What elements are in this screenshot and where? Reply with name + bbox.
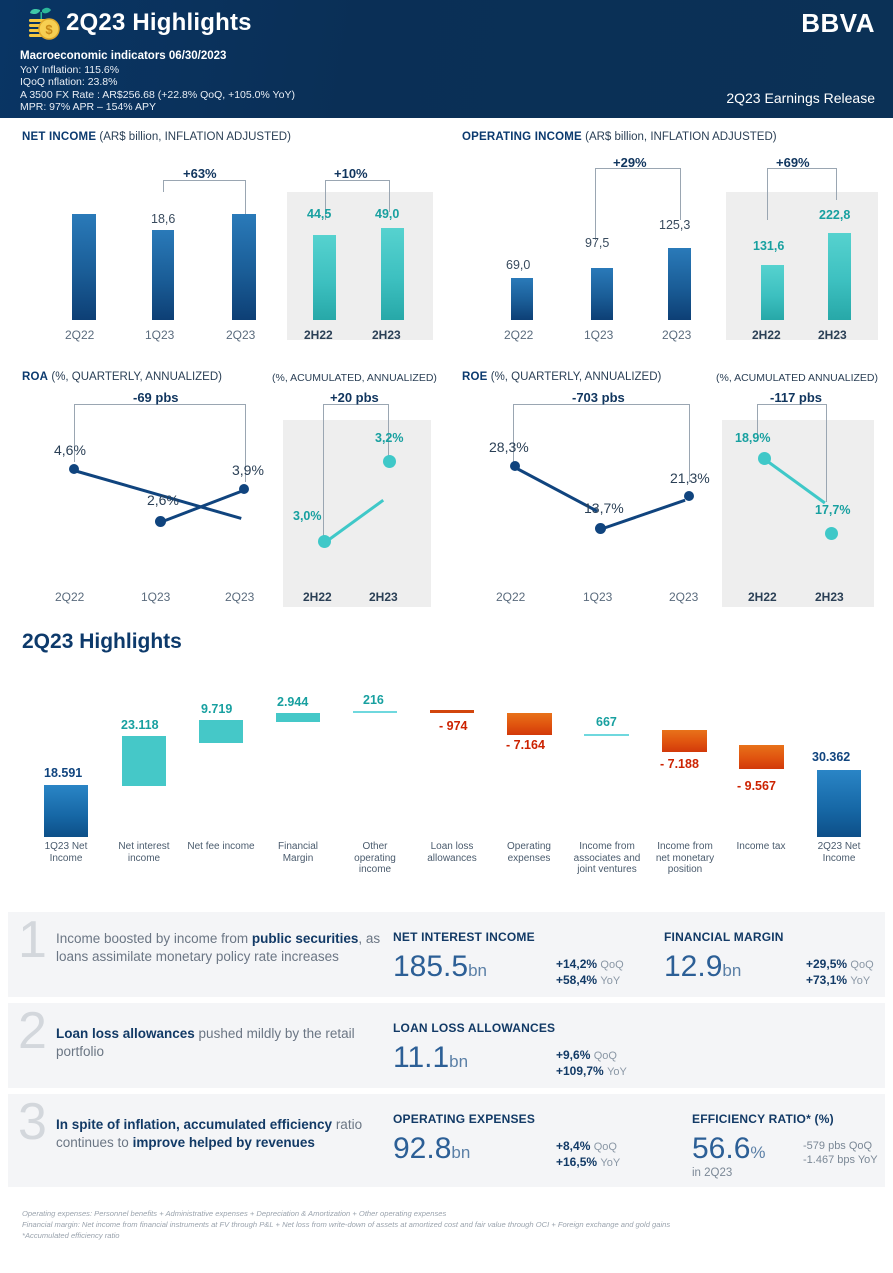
- waterfall-value-loan-loss-allowances: - 974: [439, 719, 468, 733]
- point-label-roe-2q22: 28,3%: [489, 439, 529, 455]
- waterfall-bar-loan-loss-allowances: [430, 710, 474, 713]
- waterfall-bar-income-associates: [584, 734, 629, 736]
- data-point-roa-1q23: [155, 516, 166, 527]
- axis-label-oi-2q22: 2Q22: [504, 328, 533, 342]
- chart-subtitle-roa-acc: (%, ACUMULATED, ANNUALIZED): [272, 372, 437, 384]
- point-label-roa-2q22: 4,6%: [54, 442, 86, 458]
- money-coins-icon: $: [20, 6, 64, 44]
- bar-2h23: [381, 228, 404, 320]
- highlight-card-2: 2 Loan loss allowances pushed mildly by …: [8, 1003, 885, 1088]
- axis-label-2h22: 2H22: [304, 328, 333, 342]
- data-point-roe-2h22: [758, 452, 771, 465]
- bar-oi-2q23: [668, 248, 691, 320]
- shaded-panel-roe: [722, 420, 874, 607]
- bracket-label-h2: +10%: [334, 166, 368, 181]
- waterfall-bar-net-interest-income: [122, 736, 166, 786]
- metric-value-financial-margin: 12.9bn: [664, 950, 741, 984]
- bracket-label-qoq: +63%: [183, 166, 217, 181]
- waterfall-label-10: 2Q23 Net Income: [801, 841, 877, 864]
- data-point-roe-2q23: [684, 491, 694, 501]
- waterfall-bar-1q23-net-income: [44, 785, 88, 837]
- waterfall-label-1: Net interest income: [106, 841, 182, 864]
- bracket-label-roe-acc: -117 pbs: [770, 390, 822, 405]
- data-point-roe-2q22: [510, 461, 520, 471]
- metric-deltas-loan-loss-allowances: +9,6% QoQ +109,7% YoY: [556, 1048, 627, 1080]
- bracket-tick-right-roe-acc: [826, 404, 827, 502]
- metric-label-net-interest-income: NET INTEREST INCOME: [393, 930, 535, 944]
- axis-label-roa-2h23: 2H23: [369, 590, 398, 604]
- waterfall-value-2q23-net-income: 30.362: [812, 750, 850, 764]
- point-label-roe-1q23: 13,7%: [584, 500, 624, 516]
- bar-2q23: [232, 214, 256, 320]
- bar-oi-2h22: [761, 265, 784, 320]
- bracket-label-roa: -69 pbs: [133, 390, 179, 405]
- bracket-tick-left-oi: [595, 168, 596, 240]
- bracket-tick-right-h2-oi: [836, 168, 837, 200]
- waterfall-label-3: Financial Margin: [260, 841, 336, 864]
- card-text-2: Loan loss allowances pushed mildly by th…: [56, 1025, 386, 1061]
- macro-indicators-title: Macroeconomic indicators 06/30/2023: [20, 50, 226, 62]
- axis-label-roa-2q23: 2Q23: [225, 590, 254, 604]
- axis-label-2q22: 2Q22: [65, 328, 94, 342]
- bar-oi-1q23: [591, 268, 613, 320]
- metric-deltas-net-interest-income: +14,2% QoQ +58,4% YoY: [556, 957, 624, 989]
- axis-label-roe-2q23: 2Q23: [669, 590, 698, 604]
- data-point-roa-2h23: [383, 455, 396, 468]
- point-label-roe-2h23: 17,7%: [815, 503, 850, 517]
- highlight-card-3: 3 In spite of inflation, accumulated eff…: [8, 1094, 885, 1187]
- axis-label-roa-2h22: 2H22: [303, 590, 332, 604]
- waterfall-bar-operating-expenses: [507, 713, 552, 735]
- axis-label-roe-2h23: 2H23: [815, 590, 844, 604]
- earnings-release-label: 2Q23 Earnings Release: [726, 90, 875, 106]
- waterfall-label-7: Income from associates and joint venture…: [565, 841, 649, 876]
- data-point-roa-2q23: [239, 484, 249, 494]
- bbva-logo: BBVA: [801, 8, 875, 39]
- macro-indicators-list: YoY Inflation: 115.6% IQoQ nflation: 23.…: [20, 64, 295, 114]
- metric-label-operating-expenses: OPERATING EXPENSES: [393, 1112, 535, 1126]
- point-label-roe-2h22: 18,9%: [735, 431, 770, 445]
- point-label-roa-1q23: 2,6%: [147, 492, 179, 508]
- bracket-tick-left-h2-oi: [767, 168, 768, 220]
- metric-deltas-operating-expenses: +8,4% QoQ +16,5% YoY: [556, 1139, 620, 1171]
- waterfall-title: 2Q23 Highlights: [22, 630, 182, 654]
- highlight-card-1: 1 Income boosted by income from public s…: [8, 912, 885, 997]
- bar-value-oi-1q23: 97,5: [585, 236, 609, 250]
- axis-label-1q23: 1Q23: [145, 328, 174, 342]
- chart-title-operating-income: OPERATING INCOME (AR$ billion, INFLATION…: [462, 131, 777, 143]
- axis-label-2q23: 2Q23: [226, 328, 255, 342]
- metric-label-efficiency-ratio: EFFICIENCY RATIO* (%): [692, 1112, 834, 1126]
- bar-oi-2q22: [511, 278, 533, 320]
- bar-oi-2h23: [828, 233, 851, 320]
- presentation-slide: $ 2Q23 Highlights BBVA Macroeconomic ind…: [0, 0, 893, 1273]
- axis-label-roe-2h22: 2H22: [748, 590, 777, 604]
- waterfall-label-4: Other operating income: [337, 841, 413, 876]
- metric-notes-efficiency-ratio: -579 pbs QoQ -1.467 bps YoY: [803, 1139, 878, 1167]
- axis-label-roe-1q23: 1Q23: [583, 590, 612, 604]
- waterfall-value-income-associates: 667: [596, 715, 617, 729]
- metric-deltas-financial-margin: +29,5% QoQ +73,1% YoY: [806, 957, 874, 989]
- data-point-roa-2q22: [69, 464, 79, 474]
- bracket-tick-left-roa-acc: [323, 404, 324, 538]
- footnote-2: Financial margin: Net income from financ…: [22, 1219, 670, 1230]
- card-text-3: In spite of inflation, accumulated effic…: [56, 1116, 396, 1152]
- bracket-label-qoq-oi: +29%: [613, 155, 647, 170]
- axis-label-roa-2q22: 2Q22: [55, 590, 84, 604]
- shaded-panel-oi: [726, 192, 878, 340]
- point-label-roa-2h22: 3,0%: [293, 509, 322, 523]
- axis-label-roa-1q23: 1Q23: [141, 590, 170, 604]
- bar-value-oi-2q23: 125,3: [659, 218, 690, 232]
- slide-header: $ 2Q23 Highlights BBVA Macroeconomic ind…: [0, 0, 893, 118]
- waterfall-value-financial-margin: 2.944: [277, 695, 308, 709]
- chart-subtitle-roe-acc: (%, ACUMULATED ANNUALIZED): [716, 372, 878, 384]
- svg-text:$: $: [45, 22, 53, 37]
- waterfall-bar-financial-margin: [276, 713, 320, 722]
- footnote-1: Operating expenses: Personnel benefits +…: [22, 1208, 670, 1219]
- waterfall-value-operating-expenses: - 7.164: [506, 738, 545, 752]
- card-number-2: 2: [18, 1005, 47, 1057]
- bar-value-2h23: 49,0: [375, 207, 399, 221]
- axis-label-2h23: 2H23: [372, 328, 401, 342]
- point-label-roa-2h23: 3,2%: [375, 431, 404, 445]
- bracket-tick-right-roa-acc: [388, 404, 389, 456]
- waterfall-label-8: Income from net monetary position: [644, 841, 726, 876]
- metric-value-operating-expenses: 92.8bn: [393, 1132, 470, 1166]
- axis-label-oi-1q23: 1Q23: [584, 328, 613, 342]
- chart-title-net-income: NET INCOME (AR$ billion, INFLATION ADJUS…: [22, 131, 291, 143]
- waterfall-value-1q23-net-income: 18.591: [44, 766, 82, 780]
- bracket-tick-left: [163, 180, 164, 192]
- waterfall-value-other-operating-income: 216: [363, 693, 384, 707]
- data-point-roe-2h23: [825, 527, 838, 540]
- bar-2h22: [313, 235, 336, 320]
- footnotes: Operating expenses: Personnel benefits +…: [22, 1208, 670, 1241]
- waterfall-label-6: Operating expenses: [491, 841, 567, 864]
- bracket-tick-left-roe-acc: [757, 404, 758, 434]
- waterfall-bar-net-fee-income: [199, 720, 243, 743]
- axis-label-oi-2q23: 2Q23: [662, 328, 691, 342]
- bar-value-oi-2h22: 131,6: [753, 239, 784, 253]
- metric-label-financial-margin: FINANCIAL MARGIN: [664, 930, 784, 944]
- metric-value-loan-loss-allowances: 11.1bn: [393, 1041, 468, 1075]
- axis-label-oi-2h22: 2H22: [752, 328, 781, 342]
- waterfall-bar-net-monetary-position: [662, 730, 707, 752]
- waterfall-bar-other-operating-income: [353, 711, 397, 713]
- card-text-1: Income boosted by income from public sec…: [56, 930, 386, 966]
- waterfall-label-0: 1Q23 Net Income: [28, 841, 104, 864]
- waterfall-bar-2q23-net-income: [817, 770, 861, 837]
- bracket-label-h2-oi: +69%: [776, 155, 810, 170]
- axis-label-oi-2h23: 2H23: [818, 328, 847, 342]
- waterfall-label-9: Income tax: [723, 841, 799, 853]
- metric-label-loan-loss-allowances: LOAN LOSS ALLOWANCES: [393, 1021, 555, 1035]
- data-point-roa-2h22: [318, 535, 331, 548]
- data-point-roe-1q23: [595, 523, 606, 534]
- waterfall-label-5: Loan loss allowances: [414, 841, 490, 864]
- metric-sub-efficiency-ratio: in 2Q23: [692, 1167, 732, 1179]
- metric-value-net-interest-income: 185.5bn: [393, 950, 487, 984]
- axis-label-roe-2q22: 2Q22: [496, 590, 525, 604]
- page-title: 2Q23 Highlights: [66, 9, 252, 37]
- card-number-1: 1: [18, 914, 47, 966]
- bar-value-oi-2h23: 222,8: [819, 208, 850, 222]
- point-label-roa-2q23: 3,9%: [232, 462, 264, 478]
- waterfall-value-income-tax: - 9.567: [737, 779, 776, 793]
- footnote-3: *Accumulated efficiency ratio: [22, 1230, 670, 1241]
- point-label-roe-2q23: 21,3%: [670, 470, 710, 486]
- card-number-3: 3: [18, 1096, 47, 1148]
- waterfall-label-2: Net fee income: [181, 841, 261, 853]
- waterfall-bar-income-tax: [739, 745, 784, 769]
- bracket-tick-right-oi: [680, 168, 681, 220]
- bar-value-2h22: 44,5: [307, 207, 331, 221]
- waterfall-value-net-monetary-position: - 7.188: [660, 757, 699, 771]
- chart-title-roe: ROE (%, QUARTERLY, ANNUALIZED): [462, 371, 661, 383]
- bar-2q22: [72, 214, 96, 320]
- waterfall-value-net-interest-income: 23.118: [121, 718, 159, 732]
- bracket-label-roa-acc: +20 pbs: [330, 390, 379, 405]
- bracket-label-roe: -703 pbs: [572, 390, 625, 405]
- bar-value-1q23: 18,6: [151, 212, 175, 226]
- metric-value-efficiency-ratio: 56.6%: [692, 1132, 766, 1166]
- bar-value-oi-2q22: 69,0: [506, 258, 530, 272]
- waterfall-value-net-fee-income: 9.719: [201, 702, 232, 716]
- bar-1q23: [152, 230, 174, 320]
- chart-title-roa: ROA (%, QUARTERLY, ANNUALIZED): [22, 371, 222, 383]
